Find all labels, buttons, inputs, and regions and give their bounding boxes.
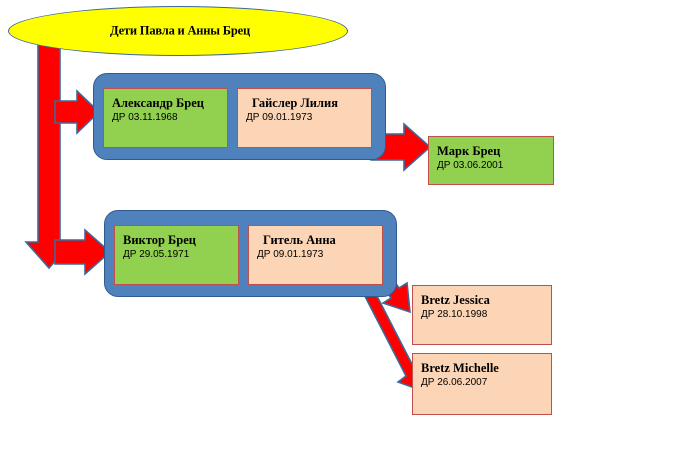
person-dob: ДР 03.11.1968 xyxy=(112,111,227,125)
person-name: Марк Брец xyxy=(437,144,553,158)
person-box-bretz-jessica: Bretz Jessica ДР 28.10.1998 xyxy=(412,285,552,345)
person-name: Александр Брец xyxy=(112,96,227,110)
person-box-bretz-michelle: Bretz Michelle ДР 26.06.2007 xyxy=(412,353,552,415)
person-box-aleksandr-brets: Александр Брец ДР 03.11.1968 xyxy=(103,88,228,148)
person-name: Bretz Michelle xyxy=(421,361,551,375)
person-box-gaysler-liliya: Гайслер Лилия ДР 09.01.1973 xyxy=(237,88,372,148)
person-box-mark-brets: Марк Брец ДР 03.06.2001 xyxy=(428,136,554,185)
couple-1-container: Александр Брец ДР 03.11.1968 Гайслер Лил… xyxy=(93,73,386,160)
person-name: Bretz Jessica xyxy=(421,293,551,307)
person-dob: ДР 26.06.2007 xyxy=(421,376,551,390)
family-tree-diagram: Дети Павла и Анны Брец Александр Брец ДР… xyxy=(0,0,680,466)
person-name: Виктор Брец xyxy=(123,233,238,247)
person-dob: ДР 09.01.1973 xyxy=(246,111,371,125)
diagram-title-label: Дети Павла и Анны Брец xyxy=(9,24,347,39)
person-dob: ДР 03.06.2001 xyxy=(437,159,553,173)
person-box-viktor-brets: Виктор Брец ДР 29.05.1971 xyxy=(114,225,239,285)
diagram-title-ellipse: Дети Павла и Анны Брец xyxy=(8,6,348,56)
person-name: Гайслер Лилия xyxy=(246,96,371,110)
couple-2-container: Виктор Брец ДР 29.05.1971 Гитель Анна ДР… xyxy=(104,210,397,297)
person-dob: ДР 09.01.1973 xyxy=(257,248,382,262)
person-box-gitel-anna: Гитель Анна ДР 09.01.1973 xyxy=(248,225,383,285)
branch-arrow-couple-2-icon xyxy=(55,230,110,274)
person-dob: ДР 29.05.1971 xyxy=(123,248,238,262)
trunk-arrow-down-icon xyxy=(26,45,72,268)
person-name: Гитель Анна xyxy=(257,233,382,247)
person-dob: ДР 28.10.1998 xyxy=(421,308,551,322)
